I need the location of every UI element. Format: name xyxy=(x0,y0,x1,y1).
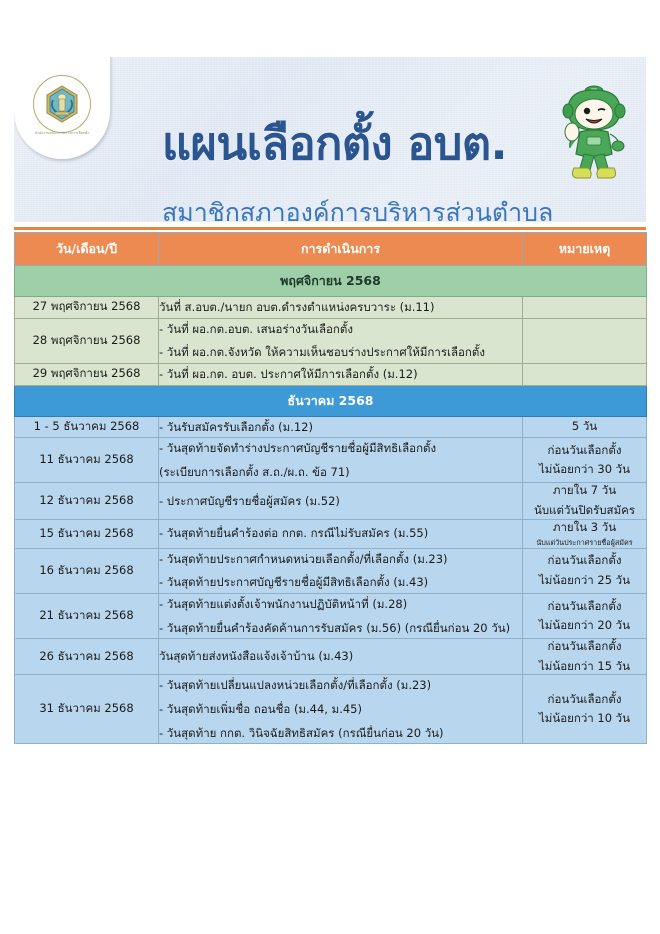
cell-note: ก่อนวันเลือกตั้งไม่น้อยกว่า 10 วัน xyxy=(523,675,647,744)
seal-caption: สำนักงานคณะกรรมการการเลือกตั้ง xyxy=(33,131,91,136)
action-line: - วันที่ ผอ.กต.อบต. เสนอร่างวันเลือกตั้ง xyxy=(159,319,522,340)
table-header-row: วัน/เดือน/ปี การดำเนินการ หมายเหตุ xyxy=(15,233,647,266)
column-header-date: วัน/เดือน/ปี xyxy=(15,233,159,266)
note-line: 5 วัน xyxy=(523,419,646,435)
cell-action: - วันที่ ผอ.กต.อบต. เสนอร่างวันเลือกตั้ง… xyxy=(159,318,523,363)
cell-date: 28 พฤศจิกายน 2568 xyxy=(15,318,159,363)
cell-note xyxy=(523,297,647,319)
cell-date: 16 ธันวาคม 2568 xyxy=(15,548,159,593)
table-row: 28 พฤศจิกายน 2568- วันที่ ผอ.กต.อบต. เสน… xyxy=(15,318,647,363)
cell-action: วันสุดท้ายส่งหนังสือแจ้งเจ้าบ้าน (ม.43) xyxy=(159,639,523,675)
cell-action: - ประกาศบัญชีรายชื่อผู้สมัคร (ม.52) xyxy=(159,483,523,519)
cell-action: - วันรับสมัครรับเลือกตั้ง (ม.12) xyxy=(159,416,523,438)
page-subtitle-line1: สมาชิกสภาองค์การบริหารส่วนตำบล xyxy=(162,196,582,222)
table-row: 31 ธันวาคม 2568- วันสุดท้ายเปลี่ยนแปลงหน… xyxy=(15,675,647,744)
cell-action: - วันสุดท้ายแต่งตั้งเจ้าพนักงานปฏิบัติหน… xyxy=(159,593,523,638)
table-row: 1 - 5 ธันวาคม 2568- วันรับสมัครรับเลือกต… xyxy=(15,416,647,438)
month-section-header: พฤศจิกายน 2568 xyxy=(15,266,647,297)
action-line: - วันสุดท้ายยื่นคำร้องคัดค้านการรับสมัคร… xyxy=(159,615,522,639)
header-accent-line xyxy=(14,227,646,230)
action-line: - วันรับสมัครรับเลือกตั้ง (ม.12) xyxy=(159,417,522,438)
cell-note: ก่อนวันเลือกตั้งไม่น้อยกว่า 30 วัน xyxy=(523,438,647,483)
note-line: ภายใน 7 วัน xyxy=(523,483,646,499)
cell-action: - วันสุดท้ายยื่นคำร้องต่อ กกต. กรณีไม่รั… xyxy=(159,519,523,548)
action-line: วันที่ ส.อบต./นายก อบต.ดำรงตำแหน่งครบวาร… xyxy=(159,297,522,318)
note-line: ไม่น้อยกว่า 20 วัน xyxy=(523,614,646,634)
cell-date: 27 พฤศจิกายน 2568 xyxy=(15,297,159,319)
action-line: - ประกาศบัญชีรายชื่อผู้สมัคร (ม.52) xyxy=(159,491,522,512)
action-line: - วันสุดท้ายประกาศกำหนดหน่วยเลือกตั้ง/ที… xyxy=(159,549,522,570)
note-line: ไม่น้อยกว่า 30 วัน xyxy=(523,458,646,478)
table-row: 21 ธันวาคม 2568- วันสุดท้ายแต่งตั้งเจ้าพ… xyxy=(15,593,647,638)
cell-note: ก่อนวันเลือกตั้งไม่น้อยกว่า 15 วัน xyxy=(523,639,647,675)
action-line: - วันที่ ผอ.กต.จังหวัด ให้ความเห็นชอบร่า… xyxy=(159,339,522,363)
action-line: - วันสุดท้ายเพิ่มชื่อ ถอนชื่อ (ม.44, ม.4… xyxy=(159,696,522,720)
action-line: (ระเบียบการเลือกตั้ง ส.ถ./ผ.ถ. ข้อ 71) xyxy=(159,459,522,483)
table-row: 26 ธันวาคม 2568วันสุดท้ายส่งหนังสือแจ้งเ… xyxy=(15,639,647,675)
note-line: ภายใน 3 วัน xyxy=(523,520,646,536)
cell-note: ก่อนวันเลือกตั้งไม่น้อยกว่า 20 วัน xyxy=(523,593,647,638)
column-header-note: หมายเหตุ xyxy=(523,233,647,266)
note-line: นับแต่วันประกาศรายชื่อผู้สมัคร xyxy=(523,535,646,548)
month-label: พฤศจิกายน 2568 xyxy=(15,266,647,297)
election-schedule-table: วัน/เดือน/ปี การดำเนินการ หมายเหตุ พฤศจิ… xyxy=(14,232,647,744)
logo-badge: สำนักงานคณะกรรมการการเลือกตั้ง xyxy=(14,57,110,159)
action-line: - วันสุดท้ายประกาศบัญชีรายชื่อผู้มีสิทธิ… xyxy=(159,569,522,593)
action-line: วันสุดท้ายส่งหนังสือแจ้งเจ้าบ้าน (ม.43) xyxy=(159,646,522,667)
cell-note xyxy=(523,363,647,385)
cell-action: - วันสุดท้ายเปลี่ยนแปลงหน่วยเลือกตั้ง/ที… xyxy=(159,675,523,744)
table-row: 29 พฤศจิกายน 2568- วันที่ ผอ.กต. อบต. ปร… xyxy=(15,363,647,385)
table-body: พฤศจิกายน 256827 พฤศจิกายน 2568วันที่ ส.… xyxy=(15,266,647,744)
cell-action: - วันที่ ผอ.กต. อบต. ประกาศให้มีการเลือก… xyxy=(159,363,523,385)
table-row: 27 พฤศจิกายน 2568วันที่ ส.อบต./นายก อบต.… xyxy=(15,297,647,319)
table-row: 16 ธันวาคม 2568- วันสุดท้ายประกาศกำหนดหน… xyxy=(15,548,647,593)
cell-action: วันที่ ส.อบต./นายก อบต.ดำรงตำแหน่งครบวาร… xyxy=(159,297,523,319)
action-line: - วันสุดท้ายจัดทำร่างประกาศบัญชีรายชื่อผ… xyxy=(159,438,522,459)
cell-note: ภายใน 3 วันนับแต่วันประกาศรายชื่อผู้สมัค… xyxy=(523,519,647,548)
note-line: ก่อนวันเลือกตั้ง xyxy=(523,599,646,615)
table-row: 12 ธันวาคม 2568- ประกาศบัญชีรายชื่อผู้สม… xyxy=(15,483,647,519)
action-line: - วันสุดท้ายเปลี่ยนแปลงหน่วยเลือกตั้ง/ที… xyxy=(159,675,522,696)
note-line: นับแต่วันปิดรับสมัคร xyxy=(523,499,646,519)
table-row: 15 ธันวาคม 2568- วันสุดท้ายยื่นคำร้องต่อ… xyxy=(15,519,647,548)
cell-date: 15 ธันวาคม 2568 xyxy=(15,519,159,548)
table-row: 11 ธันวาคม 2568- วันสุดท้ายจัดทำร่างประก… xyxy=(15,438,647,483)
month-section-header: ธันวาคม 2568 xyxy=(15,385,647,416)
cell-note xyxy=(523,318,647,363)
seal-ring xyxy=(33,75,91,133)
cell-date: 21 ธันวาคม 2568 xyxy=(15,593,159,638)
action-line: - วันสุดท้ายแต่งตั้งเจ้าพนักงานปฏิบัติหน… xyxy=(159,594,522,615)
cell-date: 31 ธันวาคม 2568 xyxy=(15,675,159,744)
note-line: ก่อนวันเลือกตั้ง xyxy=(523,553,646,569)
column-header-action: การดำเนินการ xyxy=(159,233,523,266)
note-line: ไม่น้อยกว่า 10 วัน xyxy=(523,707,646,727)
action-line: - วันที่ ผอ.กต. อบต. ประกาศให้มีการเลือก… xyxy=(159,364,522,385)
cell-action: - วันสุดท้ายประกาศกำหนดหน่วยเลือกตั้ง/ที… xyxy=(159,548,523,593)
month-label: ธันวาคม 2568 xyxy=(15,385,647,416)
cell-date: 29 พฤศจิกายน 2568 xyxy=(15,363,159,385)
cell-note: ก่อนวันเลือกตั้งไม่น้อยกว่า 25 วัน xyxy=(523,548,647,593)
cell-date: 12 ธันวาคม 2568 xyxy=(15,483,159,519)
green-robot-mascot-icon xyxy=(548,74,640,186)
cell-note: 5 วัน xyxy=(523,416,647,438)
cell-date: 26 ธันวาคม 2568 xyxy=(15,639,159,675)
page-subtitle: สมาชิกสภาองค์การบริหารส่วนตำบล และนายกอง… xyxy=(162,196,582,222)
action-line: - วันสุดท้ายยื่นคำร้องต่อ กกต. กรณีไม่รั… xyxy=(159,523,522,544)
note-line: ก่อนวันเลือกตั้ง xyxy=(523,639,646,655)
document-page: สำนักงานคณะกรรมการการเลือกตั้ง แผนเลือกต… xyxy=(0,0,660,934)
cell-action: - วันสุดท้ายจัดทำร่างประกาศบัญชีรายชื่อผ… xyxy=(159,438,523,483)
note-line: ไม่น้อยกว่า 15 วัน xyxy=(523,655,646,675)
header-banner: สำนักงานคณะกรรมการการเลือกตั้ง แผนเลือกต… xyxy=(14,57,646,222)
page-title: แผนเลือกตั้ง อบต. xyxy=(162,120,582,167)
cell-note: ภายใน 7 วันนับแต่วันปิดรับสมัคร xyxy=(523,483,647,519)
note-line: ไม่น้อยกว่า 25 วัน xyxy=(523,569,646,589)
action-line: - วันสุดท้าย กกต. วินิจฉัยสิทธิสมัคร (กร… xyxy=(159,720,522,744)
cell-date: 1 - 5 ธันวาคม 2568 xyxy=(15,416,159,438)
note-line: ก่อนวันเลือกตั้ง xyxy=(523,692,646,708)
note-line: ก่อนวันเลือกตั้ง xyxy=(523,443,646,459)
election-commission-seal-icon: สำนักงานคณะกรรมการการเลือกตั้ง xyxy=(33,75,91,133)
cell-date: 11 ธันวาคม 2568 xyxy=(15,438,159,483)
